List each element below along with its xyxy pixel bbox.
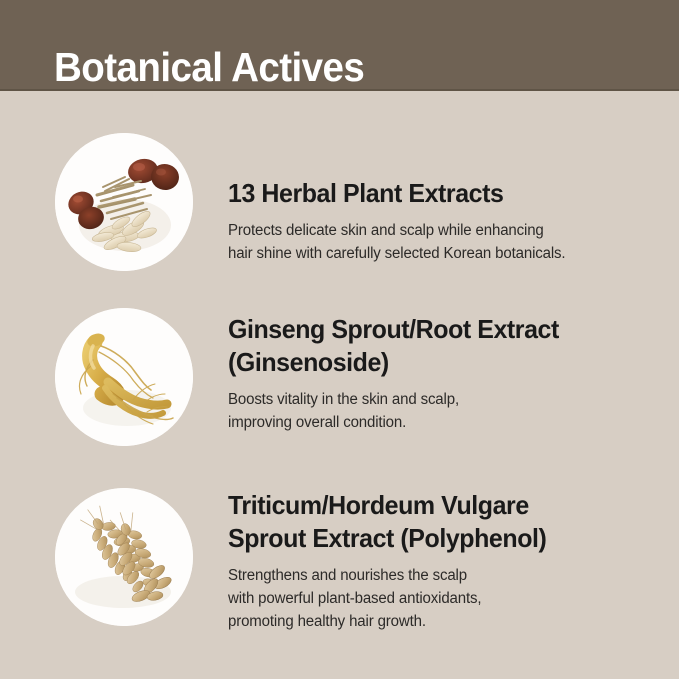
feature-body: Strengthens and nourishes the scalp with… — [228, 555, 645, 633]
dried-herbs-jujube-photo — [55, 133, 193, 271]
feature-heading: 13 Herbal Plant Extracts — [228, 177, 641, 210]
feature-heading: Triticum/Hordeum Vulgare Sprout Extract … — [228, 489, 641, 555]
header-band: Botanical Actives — [0, 0, 679, 91]
feature-heading: Ginseng Sprout/Root Extract (Ginsenoside… — [228, 313, 641, 379]
page-title: Botanical Actives — [54, 44, 364, 90]
ginseng-root-photo — [55, 308, 193, 446]
feature-body: Boosts vitality in the skin and scalp, i… — [228, 379, 645, 434]
product-feature-infographic: Botanical Actives — [0, 0, 679, 679]
feature-text: Ginseng Sprout/Root Extract (Ginsenoside… — [228, 313, 658, 434]
feature-text: 13 Herbal Plant Extracts Protects delica… — [228, 177, 658, 265]
wheat-barley-sprout-photo — [55, 488, 193, 626]
feature-text: Triticum/Hordeum Vulgare Sprout Extract … — [228, 489, 658, 633]
feature-body: Protects delicate skin and scalp while e… — [228, 210, 645, 265]
